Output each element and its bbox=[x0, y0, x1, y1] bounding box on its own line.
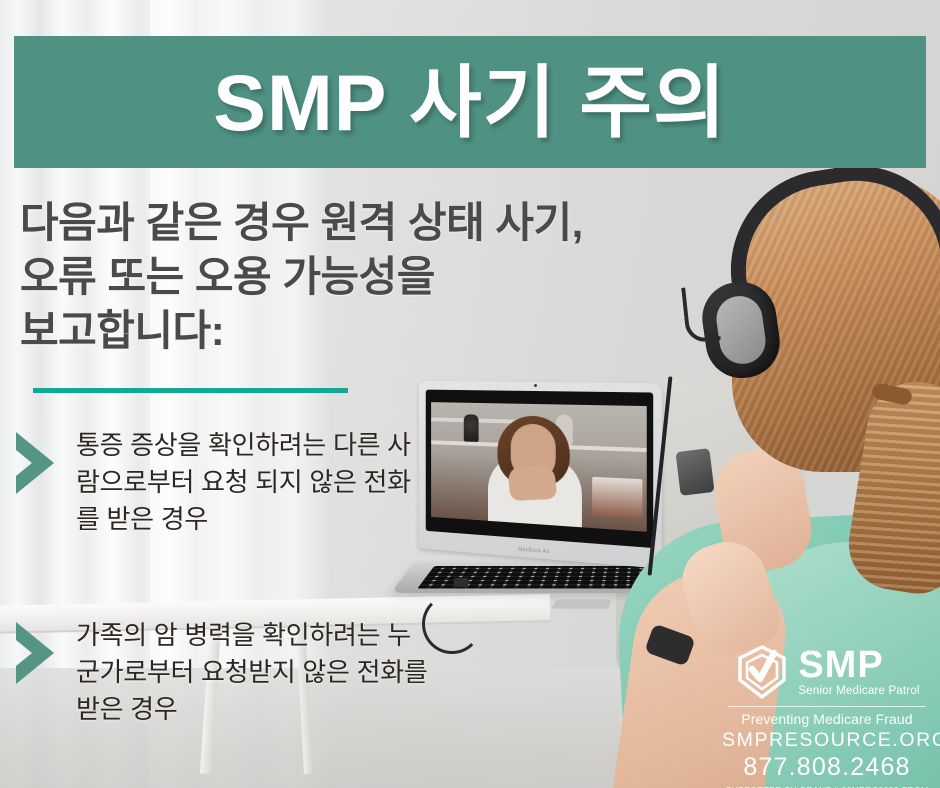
chevron-right-icon bbox=[10, 614, 66, 692]
headline-line-1: 다음과 같은 경우 원격 상태 사기, bbox=[20, 196, 740, 250]
logo-tagline: Preventing Medicare Fraud bbox=[722, 711, 932, 727]
banner-title: SMP 사기 주의 bbox=[213, 63, 726, 142]
video-plant bbox=[464, 414, 479, 442]
logo-phone[interactable]: 877.808.2468 bbox=[722, 753, 932, 782]
logo-row: SMP Senior Medicare Patrol bbox=[722, 644, 932, 700]
logo-subtitle: Senior Medicare Patrol bbox=[798, 685, 919, 697]
headline-divider bbox=[33, 388, 348, 393]
shield-check-icon bbox=[734, 644, 790, 700]
smp-logo-block: SMP Senior Medicare Patrol Preventing Me… bbox=[722, 644, 932, 788]
headline-line-2: 오류 또는 오용 가능성을 bbox=[20, 250, 740, 304]
list-item-text: 가족의 암 병력을 확인하려는 누군가로부터 요청받지 않은 전화를 받은 경우 bbox=[76, 614, 430, 728]
logo-website[interactable]: SMPRESOURCE.ORG bbox=[722, 729, 932, 752]
list-item: 통증 증상을 확인하려는 다른 사람으로부터 요청 되지 않은 전화를 받은 경… bbox=[10, 424, 430, 538]
logo-divider bbox=[728, 706, 926, 707]
logo-name: SMP bbox=[798, 647, 919, 683]
headline-line-3: 보고합니다: bbox=[20, 304, 740, 358]
chevron-right-icon bbox=[10, 424, 66, 502]
logo-wordmark: SMP Senior Medicare Patrol bbox=[798, 647, 919, 697]
list-item-text: 통증 증상을 확인하려는 다른 사람으로부터 요청 되지 않은 전화를 받은 경… bbox=[76, 424, 430, 538]
laptop-cord bbox=[422, 594, 482, 654]
poster: MacBook Air SMP 사기 주의 다음과 같은 경우 원격 상태 사기… bbox=[0, 0, 940, 788]
header-banner: SMP 사기 주의 bbox=[14, 36, 926, 168]
laptop-webcam-icon bbox=[534, 384, 537, 387]
nurse-badge-clip bbox=[675, 448, 714, 496]
caller-hand-on-throat bbox=[507, 464, 557, 501]
laptop-cord-plug bbox=[454, 578, 468, 587]
list-item: 가족의 암 병력을 확인하려는 누군가로부터 요청받지 않은 전화를 받은 경우 bbox=[10, 614, 430, 728]
headline: 다음과 같은 경우 원격 상태 사기, 오류 또는 오용 가능성을 보고합니다: bbox=[20, 196, 740, 357]
